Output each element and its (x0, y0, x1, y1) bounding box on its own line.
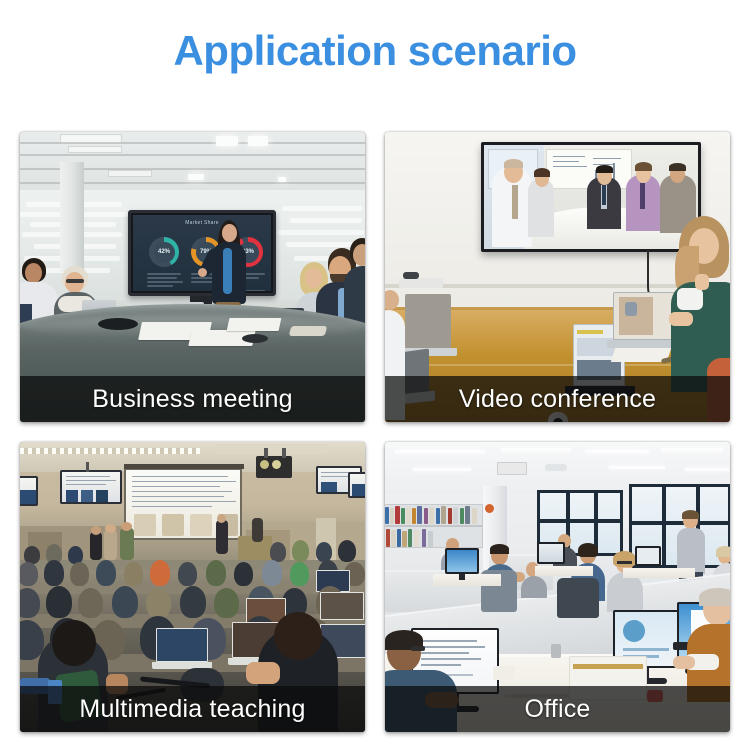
caption-bar-office: Office (385, 686, 730, 732)
scenario-card-video-conference[interactable]: Video conference (385, 132, 730, 422)
attendee-right-3 (346, 238, 365, 328)
monitor-back-2 (537, 542, 565, 564)
overhead-monitor-far-right (348, 472, 365, 498)
caption-label: Video conference (459, 385, 656, 414)
bookshelf (385, 504, 483, 548)
page-title: Application scenario (0, 24, 750, 78)
overhead-monitor-far-left (20, 476, 38, 506)
scenario-card-business-meeting[interactable]: Market Share 42% 79% 93% (20, 132, 365, 422)
exit-sign (497, 462, 527, 475)
caption-label: Office (524, 695, 590, 724)
overhead-monitor-left (60, 470, 122, 504)
scenario-card-office[interactable]: Office (385, 442, 730, 732)
caption-bar-video-conference: Video conference (385, 376, 730, 422)
caption-bar-business-meeting: Business meeting (20, 376, 365, 422)
scenario-card-multimedia-teaching[interactable]: Multimedia teaching (20, 442, 365, 732)
donut-label-1: 42% (154, 242, 175, 263)
caption-label: Multimedia teaching (79, 695, 305, 724)
scenario-grid: Market Share 42% 79% 93% (20, 132, 730, 732)
office-chair-2 (557, 578, 599, 618)
wall-mounted-tv (481, 142, 701, 252)
caption-bar-multimedia-teaching: Multimedia teaching (20, 686, 365, 732)
monitor-back (445, 548, 479, 574)
monitor-back-3 (635, 546, 661, 566)
display-chart-title: Market Share (133, 220, 271, 226)
presentation-display: Market Share 42% 79% 93% (128, 210, 276, 296)
caption-label: Business meeting (92, 385, 293, 414)
instructor (216, 520, 228, 554)
